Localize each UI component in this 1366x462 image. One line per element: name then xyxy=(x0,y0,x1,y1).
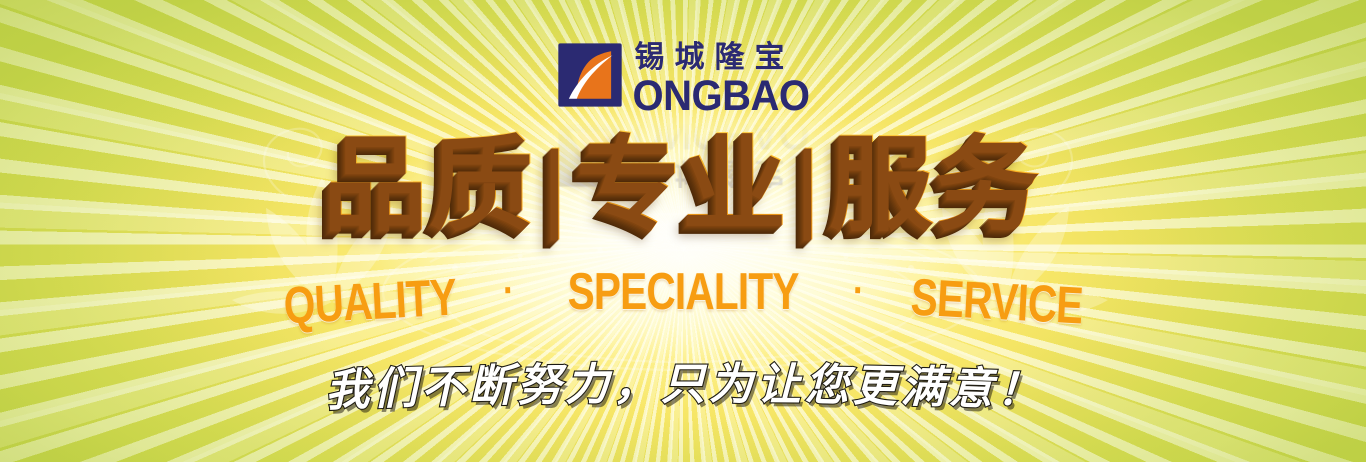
subtitle-word-service: SERVICE xyxy=(909,268,1084,337)
tagline-char: 意 xyxy=(948,352,994,417)
promo-banner: 锡城隆宝 ONGBAO 锡城隆宝 ONGBAO 品质|专业|服务 xyxy=(0,0,1366,462)
tagline-char: 为 xyxy=(709,348,753,412)
tagline-char: 努 xyxy=(517,349,562,414)
headline-part-speciality: 专业 xyxy=(577,123,789,245)
headline-separator-1: | xyxy=(536,133,577,240)
banner-content: 锡城隆宝 ONGBAO 锡城隆宝 ONGBAO 品质|专业|服务 xyxy=(0,0,1366,462)
headline-part-service: 服务 xyxy=(830,123,1042,245)
subtitle-word-speciality: SPECIALITY xyxy=(568,262,799,322)
tagline-char: 更 xyxy=(852,350,897,415)
headline-3d: 品质|专业|服务 xyxy=(0,128,1366,240)
tagline-char: 让 xyxy=(757,348,802,412)
logo-text-block: 锡城隆宝 ONGBAO xyxy=(633,42,810,115)
headline-part-quality: 品质 xyxy=(324,123,536,245)
logo-lockup: 锡城隆宝 ONGBAO xyxy=(557,42,810,115)
logo-company-en: ONGBAO xyxy=(633,75,810,117)
subtitle-dot-1: · xyxy=(497,268,520,314)
longbao-logo-mark xyxy=(557,42,623,108)
tagline-char: 不 xyxy=(420,350,466,415)
logo-company-cn: 锡城隆宝 xyxy=(635,43,810,73)
tagline-char: ， xyxy=(613,348,657,412)
tagline-char: 力 xyxy=(565,348,610,412)
tagline-char: 断 xyxy=(468,350,513,415)
tagline-char: 只 xyxy=(661,348,705,412)
tagline-chinese: 我们不断努力，只为让您更满意！ xyxy=(0,354,1366,418)
subtitle-dot-2: · xyxy=(847,268,870,314)
subtitle-word-quality: QUALITY xyxy=(282,268,457,337)
headline-separator-2: | xyxy=(789,133,830,240)
logo-lockup-row: 锡城隆宝 ONGBAO xyxy=(0,42,1366,115)
tagline-char: 您 xyxy=(805,349,850,414)
tagline-char: 满 xyxy=(900,350,946,415)
tagline-char: 们 xyxy=(372,352,418,417)
tagline-char: ！ xyxy=(996,353,1042,419)
subtitle-english: QUALITY·SPECIALITY·SERVICE xyxy=(0,272,1366,332)
tagline-char: 我 xyxy=(324,353,370,419)
